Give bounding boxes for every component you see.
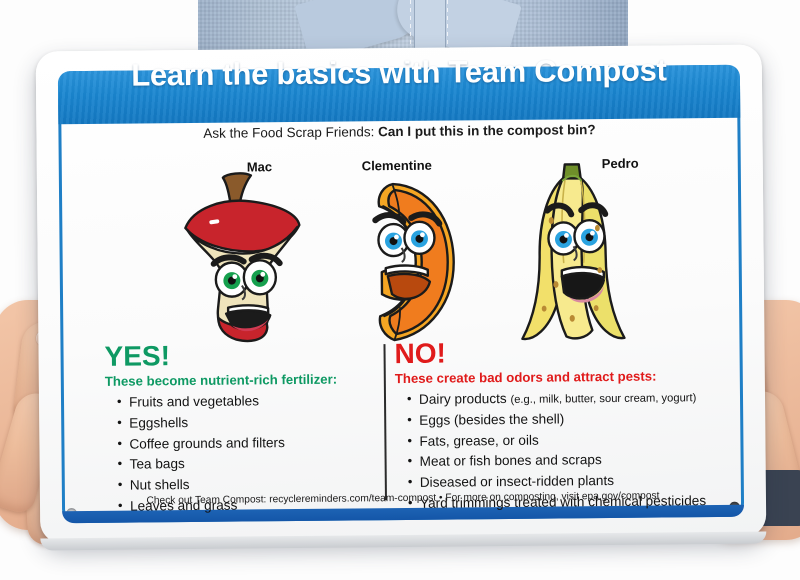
yes-heading: YES!: [104, 340, 382, 371]
list-item: Fruits and vegetables: [117, 390, 383, 413]
yes-column: YES! These become nutrient-rich fertiliz…: [104, 340, 384, 517]
list-item: Dairy products (e.g., milk, butter, sour…: [407, 387, 711, 411]
list-item: Eggshells: [117, 411, 383, 434]
character-clementine-orange-slice: [337, 175, 479, 348]
compost-sign: Learn the basics with Team Compost Ask t…: [36, 45, 767, 544]
list-item-detail: (e.g., milk, butter, sour cream, yogurt): [510, 392, 696, 406]
list-item: Eggs (besides the shell): [407, 408, 711, 432]
photo-scene: Learn the basics with Team Compost Ask t…: [0, 0, 800, 580]
list-item: Meat or fish bones and scraps: [408, 449, 712, 473]
list-item: Coffee grounds and filters: [117, 432, 383, 455]
subtitle-question: Can I put this in the compost bin?: [378, 122, 596, 139]
character-name-clementine: Clementine: [362, 158, 432, 174]
no-subheading: These create bad odors and attract pests…: [395, 368, 711, 386]
character-mac-apple-core: [165, 167, 317, 348]
list-item-text: Dairy products: [419, 391, 511, 407]
character-pedro-banana-peel: [499, 158, 651, 349]
list-item: Fats, grease, or oils: [407, 429, 711, 453]
no-heading: NO!: [394, 337, 710, 368]
no-column: NO! These create bad odors and attract p…: [394, 337, 712, 515]
page-title: Learn the basics with Team Compost: [36, 52, 762, 95]
subtitle-lead: Ask the Food Scrap Friends:: [203, 124, 374, 141]
list-item: Tea bags: [118, 453, 384, 476]
yes-subheading: These become nutrient-rich fertilizer:: [105, 371, 383, 389]
